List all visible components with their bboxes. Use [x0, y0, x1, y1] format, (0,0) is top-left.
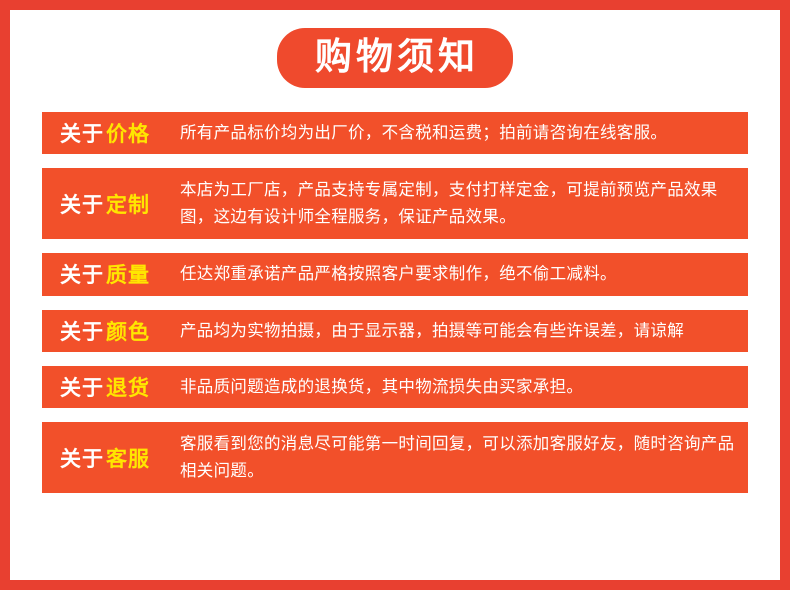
shopping-notice-page: 购物须知 关于价格 所有产品标价均为出厂价，不含税和运费；拍前请咨询在线客服。 … [0, 0, 790, 590]
label-prefix: 关于 [60, 189, 104, 219]
notice-row-label: 关于颜色 [42, 310, 168, 352]
page-inner: 购物须知 关于价格 所有产品标价均为出厂价，不含税和运费；拍前请咨询在线客服。 … [20, 20, 770, 570]
notice-row-text: 产品均为实物拍摄，由于显示器，拍摄等可能会有些许误差，请谅解 [168, 310, 748, 352]
label-prefix: 关于 [60, 372, 104, 402]
label-prefix: 关于 [60, 259, 104, 289]
notice-row-text: 任达郑重承诺产品严格按照客户要求制作，绝不偷工减料。 [168, 253, 748, 295]
title-wrap: 购物须知 [20, 28, 770, 88]
notice-row-label: 关于客服 [42, 422, 168, 493]
notice-row-label: 关于定制 [42, 168, 168, 239]
notice-row-label: 关于价格 [42, 112, 168, 154]
label-keyword: 价格 [106, 118, 150, 148]
notice-row-text: 本店为工厂店，产品支持专属定制，支付打样定金，可提前预览产品效果图，这边有设计师… [168, 168, 748, 239]
label-keyword: 客服 [106, 443, 150, 473]
notice-row: 关于退货 非品质问题造成的退换货，其中物流损失由买家承担。 [42, 366, 748, 408]
notice-row: 关于颜色 产品均为实物拍摄，由于显示器，拍摄等可能会有些许误差，请谅解 [42, 310, 748, 352]
label-keyword: 颜色 [106, 316, 150, 346]
notice-row: 关于定制 本店为工厂店，产品支持专属定制，支付打样定金，可提前预览产品效果图，这… [42, 168, 748, 239]
notice-row-text: 非品质问题造成的退换货，其中物流损失由买家承担。 [168, 366, 748, 408]
label-prefix: 关于 [60, 316, 104, 346]
notice-row-text: 所有产品标价均为出厂价，不含税和运费；拍前请咨询在线客服。 [168, 112, 748, 154]
notice-row: 关于价格 所有产品标价均为出厂价，不含税和运费；拍前请咨询在线客服。 [42, 112, 748, 154]
notice-row: 关于质量 任达郑重承诺产品严格按照客户要求制作，绝不偷工减料。 [42, 253, 748, 295]
label-prefix: 关于 [60, 118, 104, 148]
label-keyword: 定制 [106, 189, 150, 219]
notice-rows: 关于价格 所有产品标价均为出厂价，不含税和运费；拍前请咨询在线客服。 关于定制 … [42, 112, 748, 507]
notice-row-label: 关于质量 [42, 253, 168, 295]
label-keyword: 退货 [106, 372, 150, 402]
label-prefix: 关于 [60, 443, 104, 473]
notice-row: 关于客服 客服看到您的消息尽可能第一时间回复，可以添加客服好友，随时咨询产品相关… [42, 422, 748, 493]
page-title: 购物须知 [277, 28, 513, 88]
label-keyword: 质量 [106, 259, 150, 289]
notice-row-text: 客服看到您的消息尽可能第一时间回复，可以添加客服好友，随时咨询产品相关问题。 [168, 422, 748, 493]
notice-row-label: 关于退货 [42, 366, 168, 408]
